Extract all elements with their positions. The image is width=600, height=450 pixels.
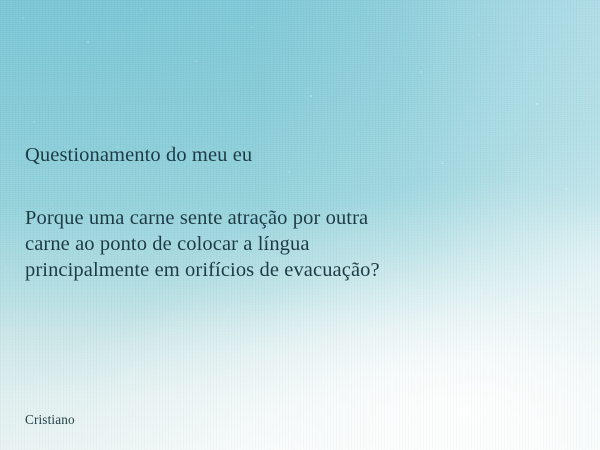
quote-text-block: Questionamento do meu eu Porque uma carn… [25, 142, 580, 283]
quote-body: Porque uma carne sente atração por outra… [25, 205, 580, 283]
quote-card: Questionamento do meu eu Porque uma carn… [0, 0, 600, 450]
quote-title: Questionamento do meu eu [25, 142, 580, 168]
author-name: Cristiano [25, 411, 75, 428]
